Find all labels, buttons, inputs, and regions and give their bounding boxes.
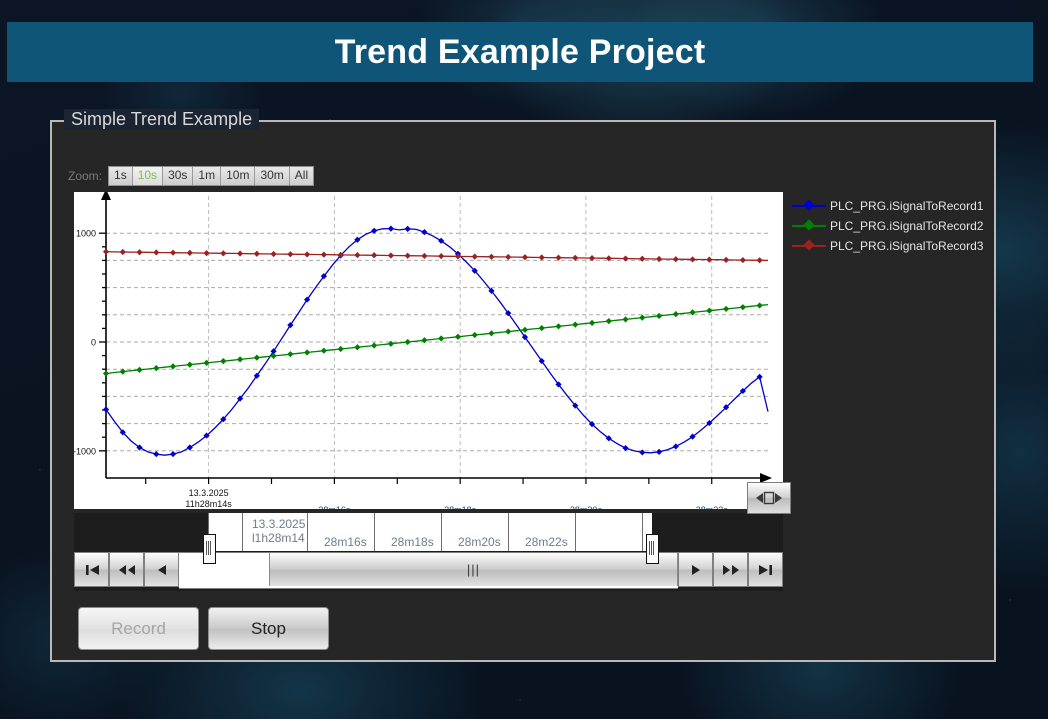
series-marker-3 <box>321 252 327 258</box>
series-marker-2 <box>304 349 310 355</box>
series-marker-2 <box>287 351 293 357</box>
series-marker-2 <box>103 370 109 376</box>
skip-to-start-icon <box>84 563 100 577</box>
series-marker-2 <box>673 311 679 317</box>
series-marker-2 <box>757 302 763 308</box>
series-marker-2 <box>488 330 494 336</box>
step-forward-icon <box>690 563 702 577</box>
series-marker-3 <box>405 253 411 259</box>
trend-group-box: Simple Trend Example Zoom: 1s10s30s1m10m… <box>50 120 996 662</box>
series-marker-2 <box>555 323 561 329</box>
series-marker-3 <box>220 250 226 256</box>
series-marker-2 <box>505 328 511 334</box>
skip-to-start-button[interactable] <box>74 552 109 587</box>
svg-text:13.3.2025: 13.3.2025 <box>189 488 229 498</box>
series-marker-3 <box>488 254 494 260</box>
range-thumb-left[interactable] <box>203 534 216 564</box>
step-forward-button[interactable] <box>678 552 713 587</box>
range-tick <box>307 513 308 551</box>
record-controls: Record Stop <box>78 607 329 650</box>
series-marker-2 <box>153 365 159 371</box>
series-marker-3 <box>689 256 695 262</box>
series-marker-2 <box>220 358 226 364</box>
series-marker-3 <box>153 249 159 255</box>
range-tick <box>441 513 442 551</box>
series-marker-3 <box>673 256 679 262</box>
range-start-label: 13.3.2025l1h28m14 <box>252 517 305 545</box>
skip-to-end-button[interactable] <box>748 552 783 587</box>
series-marker-1 <box>622 445 628 451</box>
fast-forward-button[interactable] <box>713 552 748 587</box>
series-marker-3 <box>103 249 109 255</box>
series-marker-2 <box>639 315 645 321</box>
series-marker-3 <box>371 252 377 258</box>
series-marker-1 <box>405 226 411 232</box>
series-marker-2 <box>321 348 327 354</box>
series-marker-2 <box>354 344 360 350</box>
fast-rewind-button[interactable] <box>109 552 144 587</box>
svg-text:0: 0 <box>91 338 96 348</box>
range-label-4: 28m22s <box>525 535 568 549</box>
series-marker-3 <box>237 250 243 256</box>
record-button[interactable]: Record <box>78 607 199 650</box>
svg-text:28m16s: 28m16s <box>318 505 351 509</box>
zoom-toolbar: Zoom: 1s10s30s1m10m30mAll <box>68 166 314 186</box>
legend-label-2: PLC_PRG.iSignalToRecord2 <box>830 219 983 233</box>
series-marker-1 <box>656 449 662 455</box>
series-marker-2 <box>572 321 578 327</box>
app-title-banner: Trend Example Project <box>7 22 1033 82</box>
series-marker-2 <box>589 320 595 326</box>
series-marker-3 <box>723 257 729 263</box>
svg-text:11h28m14s: 11h28m14s <box>185 499 232 509</box>
range-tick <box>508 513 509 551</box>
series-marker-3 <box>170 250 176 256</box>
fast-forward-icon <box>722 563 740 577</box>
fast-rewind-icon <box>118 563 136 577</box>
series-marker-3 <box>388 252 394 258</box>
zoom-label: Zoom: <box>68 169 102 183</box>
page-title: Trend Example Project <box>335 33 706 72</box>
series-marker-1 <box>153 451 159 457</box>
group-box-title: Simple Trend Example <box>64 109 259 130</box>
svg-text:28m22s: 28m22s <box>696 505 729 509</box>
series-marker-1 <box>371 228 377 234</box>
series-marker-3 <box>120 249 126 255</box>
fit-to-window-button[interactable] <box>747 482 791 514</box>
legend-item-2[interactable]: PLC_PRG.iSignalToRecord2 <box>792 216 988 236</box>
series-marker-1 <box>421 229 427 235</box>
series-marker-3 <box>304 251 310 257</box>
range-track[interactable]: 13.3.2025l1h28m1428m16s28m18s28m20s28m22… <box>74 513 783 551</box>
range-tick <box>242 513 243 551</box>
series-marker-2 <box>438 335 444 341</box>
series-marker-1 <box>639 449 645 455</box>
svg-text:1000: 1000 <box>76 229 96 239</box>
series-marker-3 <box>656 256 662 262</box>
legend-label-1: PLC_PRG.iSignalToRecord1 <box>830 199 983 213</box>
series-marker-2 <box>622 316 628 322</box>
series-marker-2 <box>606 318 612 324</box>
playback-navigation-bar: ||| <box>74 552 783 587</box>
range-label-2: 28m18s <box>391 535 434 549</box>
series-marker-2 <box>656 313 662 319</box>
time-scrollbar-thumb[interactable]: ||| <box>269 553 678 586</box>
range-label-1: 28m16s <box>324 535 367 549</box>
legend-label-3: PLC_PRG.iSignalToRecord3 <box>830 239 983 253</box>
series-marker-2 <box>136 367 142 373</box>
series-marker-3 <box>287 251 293 257</box>
series-marker-3 <box>472 253 478 259</box>
fit-to-window-icon <box>756 490 782 506</box>
series-marker-2 <box>237 356 243 362</box>
series-marker-2 <box>539 325 545 331</box>
series-marker-2 <box>371 342 377 348</box>
zoom-button-30s[interactable]: 30s <box>163 167 193 185</box>
svg-text:28m20s: 28m20s <box>570 505 603 509</box>
svg-text:28m18s: 28m18s <box>444 505 477 509</box>
range-thumb-right[interactable] <box>646 534 659 564</box>
series-marker-3 <box>421 253 427 259</box>
series-marker-1 <box>673 443 679 449</box>
series-marker-3 <box>254 251 260 257</box>
zoom-button-1m[interactable]: 1m <box>193 167 221 185</box>
time-scrollbar-track[interactable]: ||| <box>179 552 678 589</box>
series-marker-2 <box>723 306 729 312</box>
range-tick <box>575 513 576 551</box>
series-marker-3 <box>354 252 360 258</box>
time-range-selector[interactable]: 13.3.2025l1h28m1428m16s28m18s28m20s28m22… <box>74 513 783 591</box>
series-marker-1 <box>170 451 176 457</box>
zoom-button-10s[interactable]: 10s <box>133 167 163 185</box>
series-marker-3 <box>522 254 528 260</box>
svg-text:-1000: -1000 <box>74 446 96 456</box>
series-marker-3 <box>270 251 276 257</box>
series-marker-1 <box>388 226 394 232</box>
legend-item-1[interactable]: PLC_PRG.iSignalToRecord1 <box>792 196 988 216</box>
series-marker-2 <box>170 363 176 369</box>
stop-button[interactable]: Stop <box>208 607 329 650</box>
series-marker-3 <box>505 254 511 260</box>
series-marker-2 <box>740 304 746 310</box>
skip-to-end-icon <box>758 563 774 577</box>
scrollbar-grip: ||| <box>467 562 480 577</box>
zoom-button-group: 1s10s30s1m10m30mAll <box>108 166 314 186</box>
series-marker-2 <box>254 355 260 361</box>
range-tick <box>642 513 643 551</box>
series-marker-3 <box>740 257 746 263</box>
legend-swatch-1 <box>792 205 826 207</box>
legend-swatch-2 <box>792 225 826 227</box>
trend-chart[interactable]: 10000-100013.3.202511h28m14s28m16s28m18s… <box>74 192 783 509</box>
range-label-3: 28m20s <box>458 535 501 549</box>
zoom-button-All[interactable]: All <box>290 167 313 185</box>
zoom-button-10m[interactable]: 10m <box>221 167 255 185</box>
step-back-icon <box>156 563 168 577</box>
series-marker-2 <box>187 362 193 368</box>
series-marker-3 <box>438 253 444 259</box>
legend-swatch-3 <box>792 245 826 247</box>
series-marker-2 <box>522 327 528 333</box>
series-marker-3 <box>757 257 763 263</box>
series-marker-3 <box>136 249 142 255</box>
series-marker-2 <box>338 346 344 352</box>
series-marker-3 <box>639 256 645 262</box>
zoom-button-30m[interactable]: 30m <box>255 167 289 185</box>
legend-item-3[interactable]: PLC_PRG.iSignalToRecord3 <box>792 236 988 256</box>
series-marker-3 <box>555 255 561 261</box>
range-tick <box>374 513 375 551</box>
series-marker-2 <box>472 332 478 338</box>
chart-legend: PLC_PRG.iSignalToRecord1PLC_PRG.iSignalT… <box>792 196 988 256</box>
series-marker-3 <box>539 254 545 260</box>
zoom-button-1s[interactable]: 1s <box>109 167 133 185</box>
series-marker-3 <box>187 250 193 256</box>
series-marker-2 <box>405 339 411 345</box>
step-back-button[interactable] <box>144 552 179 587</box>
